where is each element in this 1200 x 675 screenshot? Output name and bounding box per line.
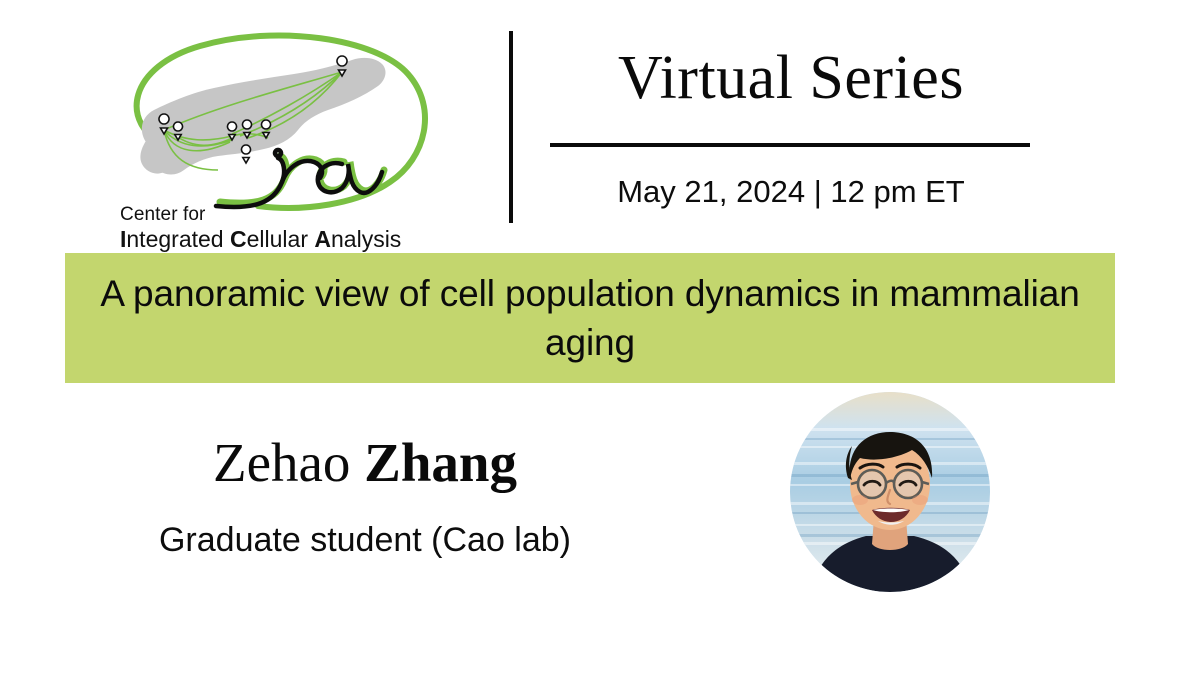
- ica-logo-wordmark: Center for Integrated Cellular Analysis: [120, 204, 440, 253]
- logo-initial-c: C: [230, 226, 247, 252]
- talk-title: A panoramic view of cell population dyna…: [79, 269, 1101, 367]
- speaker-given-name: Zehao: [213, 432, 364, 493]
- talk-title-banner: A panoramic view of cell population dyna…: [65, 253, 1115, 383]
- logo-word-ellular: ellular: [247, 226, 315, 252]
- ica-logo: Center for Integrated Cellular Analysis: [108, 30, 438, 230]
- webinar-announcement-slide: Center for Integrated Cellular Analysis …: [0, 0, 1200, 675]
- series-date-time: May 21, 2024 | 12 pm ET: [550, 172, 1032, 212]
- horizontal-rule-icon: [550, 143, 1030, 147]
- logo-line-integrated-cellular-analysis: Integrated Cellular Analysis: [120, 226, 440, 253]
- logo-word-nalysis: nalysis: [331, 226, 401, 252]
- logo-initial-a: A: [314, 226, 331, 252]
- series-title: Virtual Series: [550, 42, 1032, 114]
- speaker-portrait-icon: [790, 392, 990, 592]
- vertical-divider-icon: [509, 31, 513, 223]
- ica-logo-mark-icon: [108, 30, 438, 230]
- speaker-role: Graduate student (Cao lab): [60, 518, 670, 562]
- logo-word-ntegrated: ntegrated: [126, 226, 230, 252]
- logo-line-center-for: Center for: [120, 204, 440, 226]
- speaker-family-name: Zhang: [364, 432, 517, 493]
- speaker-name: Zehao Zhang: [60, 430, 670, 496]
